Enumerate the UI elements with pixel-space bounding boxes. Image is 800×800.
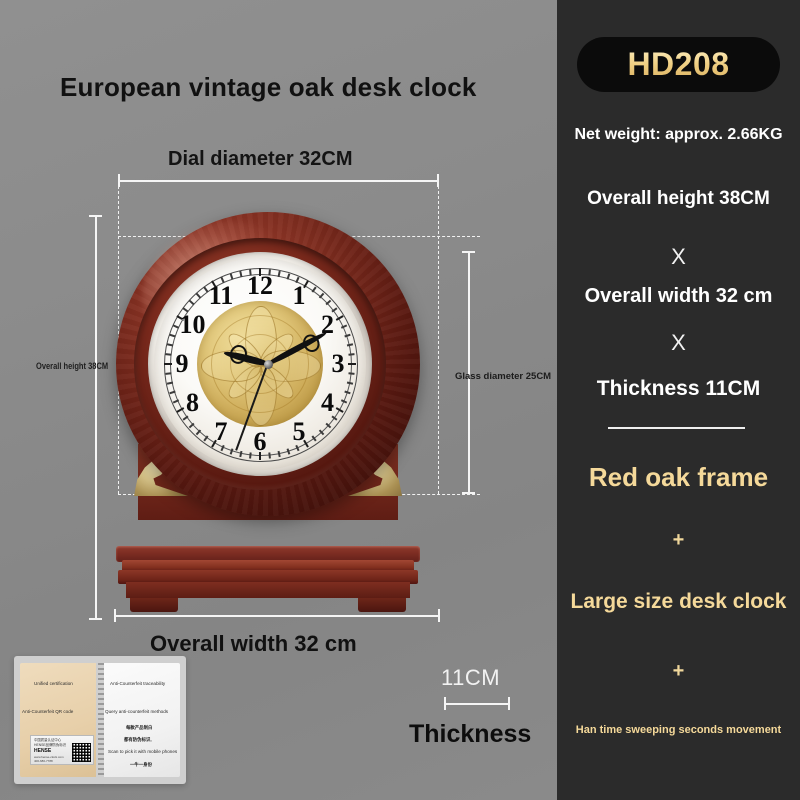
thickness-cap-right xyxy=(508,697,510,710)
dial-numeral: 6 xyxy=(254,429,267,455)
page-title: European vintage oak desk clock xyxy=(60,72,477,103)
overall-width-line xyxy=(114,615,439,617)
spec-multiply-2: X xyxy=(557,330,800,356)
base-foot-left xyxy=(130,598,178,612)
thickness-label: Thickness xyxy=(409,720,531,749)
certification-card: Unified certification Anti-Counterfeit Q… xyxy=(14,656,186,784)
dial-numeral: 5 xyxy=(293,419,306,445)
cert-cn-line-1: 每款产品制白 xyxy=(126,725,152,731)
feature-plus-2: + xyxy=(557,660,800,683)
thickness-cap-left xyxy=(444,697,446,710)
overall-height-label: Overall height 38CM xyxy=(36,360,108,371)
thickness-line xyxy=(444,703,510,705)
glass-diameter-cap-bottom xyxy=(462,492,475,494)
feature-movement: Han time sweeping seconds movement xyxy=(557,724,800,736)
dial-numeral: 11 xyxy=(209,283,234,309)
overall-width-cap-right xyxy=(438,609,440,622)
sticker-cn-line-2: HENSE品牌防伪标识 xyxy=(34,742,66,747)
dial-numeral: 7 xyxy=(215,419,228,445)
clock-base xyxy=(116,502,420,622)
cert-scan-line: Scan to pick it with mobile phones xyxy=(108,749,177,754)
thickness-value: 11CM xyxy=(441,665,500,691)
glass-diameter-cap-top xyxy=(462,251,475,253)
feature-plus-1: + xyxy=(557,529,800,552)
traceability-title: Anti-Counterfeit traceability xyxy=(110,681,165,686)
dial-numeral: 8 xyxy=(186,390,199,416)
dial-numeral: 12 xyxy=(247,273,273,299)
sticker-brand: HENSE xyxy=(34,748,51,754)
guide-dash-right xyxy=(438,186,439,494)
dial-diameter-line xyxy=(118,180,438,182)
dial-numeral: 10 xyxy=(179,312,205,338)
cert-cn-line-2: 都有防伪标识, xyxy=(124,737,152,743)
base-foot-right xyxy=(358,598,406,612)
product-infographic: European vintage oak desk clock Dial dia… xyxy=(0,0,800,800)
certification-card-right-page: Anti-Counterfeit traceability Query anti… xyxy=(104,663,180,777)
hand-hub xyxy=(264,360,273,369)
net-weight-text: Net weight: approx. 2.66KG xyxy=(557,126,800,144)
overall-height-cap-top xyxy=(89,215,102,217)
dial-numeral: 1 xyxy=(293,283,306,309)
panel-divider xyxy=(608,427,745,429)
dial-numeral: 9 xyxy=(176,351,189,377)
certification-card-left-page: Unified certification Anti-Counterfeit Q… xyxy=(20,663,96,777)
dial-numeral: 4 xyxy=(321,390,334,416)
desk-clock-illustration: 121234567891011 xyxy=(108,212,428,622)
spec-thickness: Thickness 11CM xyxy=(557,377,800,401)
anti-counterfeit-qr-label: Anti-Counterfeit QR code xyxy=(22,709,73,714)
dial-numeral: 3 xyxy=(332,351,345,377)
overall-width-cap-left xyxy=(114,609,116,622)
feature-red-oak-frame: Red oak frame xyxy=(557,462,800,493)
feature-large-size-desk-clock: Large size desk clock xyxy=(557,590,800,614)
overall-height-cap-bottom xyxy=(89,618,102,620)
glass-diameter-label: Glass diameter 25CM xyxy=(455,371,551,382)
qr-code-icon xyxy=(72,743,91,762)
dial-diameter-label: Dial diameter 32CM xyxy=(168,148,353,171)
model-badge-text: HD208 xyxy=(627,46,729,83)
overall-width-label: Overall width 32 cm xyxy=(150,631,357,657)
unified-certification-title: Unified certification xyxy=(34,681,73,686)
overall-height-line xyxy=(95,215,97,620)
sticker-phone: 400-680-7788 xyxy=(34,759,53,763)
spec-overall-width: Overall width 32 cm xyxy=(557,285,800,308)
model-badge: HD208 xyxy=(577,37,780,92)
base-tier-4 xyxy=(126,582,410,598)
query-methods-label: Query anti-counterfeit methods xyxy=(105,709,168,714)
spec-multiply-1: X xyxy=(557,244,800,270)
anti-counterfeit-sticker: 中国质量认证中心 HENSE品牌防伪标识 HENSE www.hense-clo… xyxy=(30,735,94,765)
spec-overall-height: Overall height 38CM xyxy=(557,188,800,210)
cert-cn-line-4: 一牛一身份 xyxy=(130,762,152,768)
